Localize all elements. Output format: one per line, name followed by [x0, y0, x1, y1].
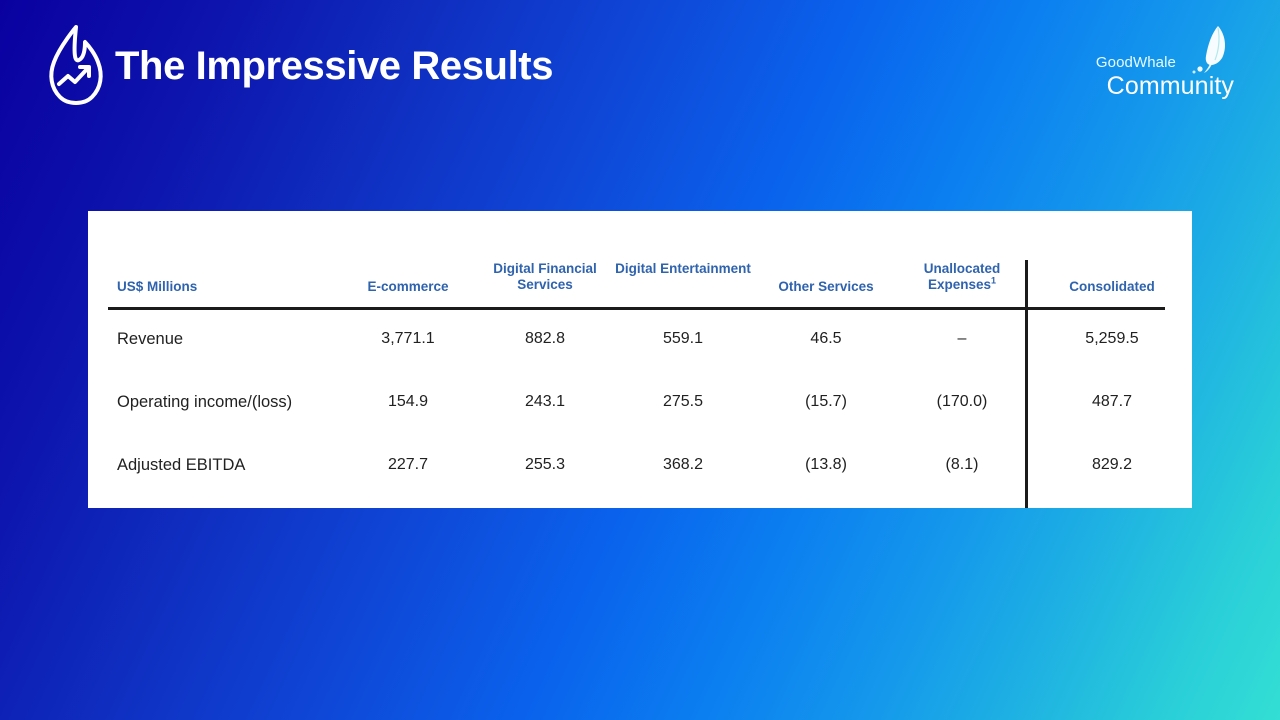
footnote-marker: 1 — [991, 276, 996, 286]
column-header-e-commerce: E-commerce — [328, 279, 488, 295]
brand-name-top: GoodWhale — [1096, 54, 1176, 71]
header-rule — [108, 307, 1165, 310]
cell-operating-income-consolidated: 487.7 — [1032, 392, 1192, 412]
brand-logo: GoodWhale Community — [1041, 14, 1256, 100]
cell-adjusted-ebitda-digital-entertainment: 368.2 — [613, 455, 753, 475]
column-header-unallocated-expenses-text: Unallocated Expenses — [924, 261, 1001, 292]
row-label-adjusted-ebitda: Adjusted EBITDA — [117, 455, 357, 475]
cell-revenue-digital-entertainment: 559.1 — [613, 329, 753, 349]
brand-name-bottom: Community — [1107, 72, 1234, 101]
cell-revenue-consolidated: 5,259.5 — [1032, 329, 1192, 349]
row-label-operating-income: Operating income/(loss) — [117, 392, 357, 412]
cell-operating-income-other-services: (15.7) — [750, 392, 902, 412]
cell-revenue-other-services: 46.5 — [750, 329, 902, 349]
column-header-other-services: Other Services — [750, 279, 902, 295]
slide-header: The Impressive Results GoodWhale Communi… — [0, 0, 1280, 140]
column-header-digital-entertainment: Digital Entertainment — [613, 261, 753, 277]
column-header-us-millions: US$ Millions — [117, 279, 317, 295]
column-header-consolidated: Consolidated — [1032, 279, 1192, 295]
cell-adjusted-ebitda-unallocated-expenses: (8.1) — [898, 455, 1026, 475]
cell-revenue-e-commerce: 3,771.1 — [328, 329, 488, 349]
cell-adjusted-ebitda-consolidated: 829.2 — [1032, 455, 1192, 475]
cell-operating-income-digital-financial-services: 243.1 — [475, 392, 615, 412]
cell-operating-income-unallocated-expenses: (170.0) — [898, 392, 1026, 412]
cell-revenue-digital-financial-services: 882.8 — [475, 329, 615, 349]
page-title: The Impressive Results — [115, 44, 553, 89]
results-table-card: US$ Millions E-commerce Digital Financia… — [88, 211, 1192, 508]
row-label-revenue: Revenue — [117, 329, 337, 349]
cell-revenue-unallocated-expenses: – — [898, 329, 1026, 349]
cell-adjusted-ebitda-e-commerce: 227.7 — [328, 455, 488, 475]
column-header-digital-financial-services: Digital Financial Services — [475, 261, 615, 293]
flame-trending-up-icon — [40, 22, 112, 112]
cell-adjusted-ebitda-other-services: (13.8) — [750, 455, 902, 475]
cell-adjusted-ebitda-digital-financial-services: 255.3 — [475, 455, 615, 475]
results-table: US$ Millions E-commerce Digital Financia… — [88, 211, 1192, 508]
column-header-unallocated-expenses: Unallocated Expenses1 — [898, 261, 1026, 293]
whale-rocket-icon — [1178, 22, 1234, 78]
cell-operating-income-e-commerce: 154.9 — [328, 392, 488, 412]
cell-operating-income-digital-entertainment: 275.5 — [613, 392, 753, 412]
